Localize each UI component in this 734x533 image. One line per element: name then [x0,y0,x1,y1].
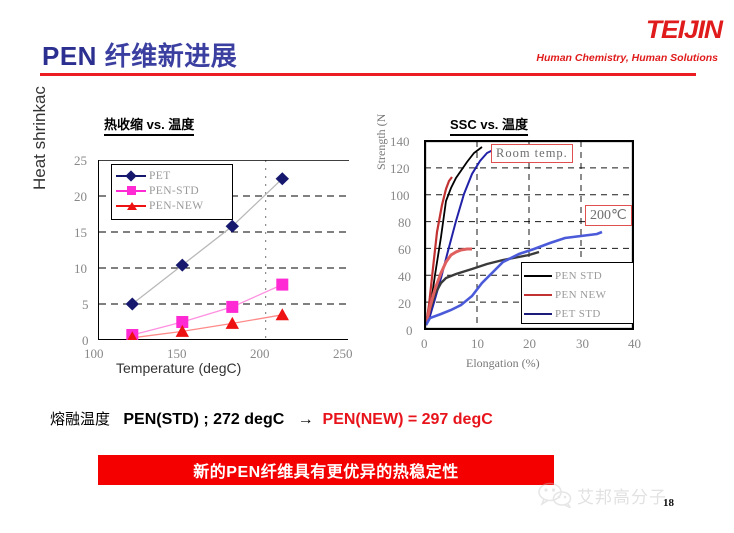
series-line-pen-new [132,315,282,338]
legend-swatch-pen-std-ssc [524,270,552,282]
legend-label-pet-std-ssc: PET STD [555,308,601,320]
melt-std-value: PEN(STD) ; 272 degC [123,411,284,428]
slide-header: PEN 纤维新进展 TEIJIN Human Chemistry, Human … [0,0,734,82]
title-divider [40,73,696,76]
square-marker-icon [127,186,136,195]
chart-left-xtick-200: 200 [250,346,270,362]
legend-item-pen-new: PEN-NEW [116,198,228,213]
chart-right-xtick-20: 20 [523,336,536,352]
chart-right-xtick-30: 30 [576,336,589,352]
chart-right-xtick-0: 0 [421,336,428,352]
chart-right-title: SSC vs. 温度 [450,114,528,136]
page-title-en: PEN [42,41,105,71]
chart-right-plot-area: PEN STD PEN NEW PET STD [424,140,634,330]
chart-right-xtick-10: 10 [471,336,484,352]
conclusion-banner-text: 新的PEN纤维具有更优异的热稳定性 [98,455,554,485]
legend-label-pen-std: PEN-STD [149,185,199,197]
legend-label-pen-new: PEN-NEW [149,200,204,212]
watermark-text: 艾邦高分子 [577,483,667,508]
chart-left-title: 热收缩 vs. 温度 [104,114,194,136]
chart-left-y-axis-label: Heat shrinkac [30,86,50,190]
chart-heat-shrinkage: 热收缩 vs. 温度 Heat shrinkac Temperature (de… [38,112,368,402]
legend-label-pen-new-ssc: PEN NEW [555,289,606,301]
chart-right-xtick-40: 40 [628,336,641,352]
melting-temperature-line: 熔融温度 PEN(STD) ; 272 degC → PEN(NEW) = 29… [50,408,493,429]
legend-swatch-pen-new [116,200,146,212]
legend-item-pet: PET [116,168,228,183]
melt-prefix-cn: 熔融温度 [50,411,110,428]
legend-item-pen-std-ssc: PEN STD [524,266,631,285]
melt-new-value: PEN(NEW) = 297 degC [323,411,493,428]
chart-left-plot-area: PET PEN-STD PEN-NEW [98,160,348,340]
chart-left-legend: PET PEN-STD PEN-NEW [111,164,233,220]
chart-right-ytick-40: 40 [398,269,411,285]
chart-left-ytick-5: 5 [82,297,89,313]
chart-right-x-axis-label: Elongation (%) [466,356,540,371]
chart-left-x-axis-label: Temperature (degC) [116,360,241,376]
chart-right-ytick-0: 0 [406,323,413,339]
triangle-marker-icon [127,202,137,210]
legend-item-pen-new-ssc: PEN NEW [524,285,631,304]
legend-swatch-pen-new-ssc [524,289,552,301]
legend-label-pet: PET [149,170,171,182]
legend-swatch-pen-std [116,185,146,197]
brand-tagline: Human Chemistry, Human Solutions [536,52,718,64]
chart-right-ytick-80: 80 [398,215,411,231]
chart-left-ytick-20: 20 [74,189,87,205]
legend-swatch-pet [116,170,146,182]
page-title-cn: 纤维新进展 [105,41,238,71]
chart-right-y-axis-label: Strength (N [374,114,389,170]
legend-item-pet-std-ssc: PET STD [524,304,631,323]
chart-left-ytick-10: 10 [74,261,87,277]
page-number: 18 [663,497,674,509]
wechat-icon [538,482,572,508]
legend-item-pen-std: PEN-STD [116,183,228,198]
conclusion-banner: 新的PEN纤维具有更优异的热稳定性 [98,455,554,485]
arrow-right-icon: → [298,411,314,428]
teijin-logo: TEIJIN [646,16,722,45]
annotation-200c: 200℃ [585,205,632,226]
annotation-room-temp: Room temp. [491,144,573,163]
chart-right-ytick-120: 120 [390,161,410,177]
watermark: 艾邦高分子 [538,478,728,512]
legend-swatch-pet-std-ssc [524,308,552,320]
chart-stress-strain: SSC vs. 温度 Strength (N Elongation (%) 14… [378,112,678,402]
chart-right-ytick-60: 60 [398,242,411,258]
chart-left-xtick-100: 100 [84,346,104,362]
legend-label-pen-std-ssc: PEN STD [555,270,602,282]
chart-right-ytick-100: 100 [390,188,410,204]
chart-left-xtick-250: 250 [333,346,353,362]
chart-right-ytick-20: 20 [398,296,411,312]
chart-left-ytick-15: 15 [74,225,87,241]
chart-left-xtick-150: 150 [167,346,187,362]
diamond-marker-icon [125,170,136,181]
chart-right-legend: PEN STD PEN NEW PET STD [521,262,634,324]
page-title: PEN 纤维新进展 [42,36,237,73]
chart-left-ytick-25: 25 [74,153,87,169]
chart-right-ytick-140: 140 [390,134,410,150]
